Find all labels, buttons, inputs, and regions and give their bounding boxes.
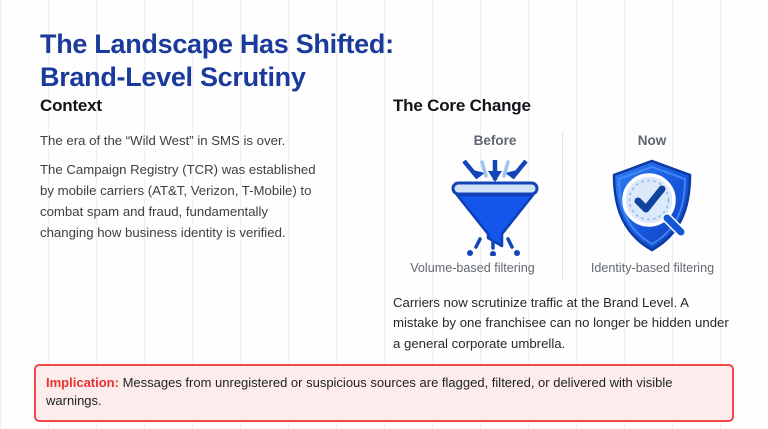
slide-canvas: The Landscape Has Shifted: Brand-Level S… [0, 0, 768, 429]
page-title-line-2: Brand-Level Scrutiny [40, 61, 470, 94]
core-change-heading: The Core Change [393, 96, 531, 116]
context-paragraph-2: The Campaign Registry (TCR) was establis… [40, 160, 316, 243]
page-title-line-1: The Landscape Has Shifted: [40, 29, 394, 59]
implication-banner: Implication: Messages from unregistered … [34, 364, 734, 422]
implication-tag: Implication: [46, 375, 119, 390]
shield-check-magnifier-graphic [607, 158, 697, 254]
caption-now: Identity-based filtering [570, 261, 735, 275]
shield-check-magnifier-icon [577, 156, 727, 256]
context-paragraph-1: The era of the “Wild West” in SMS is ove… [40, 131, 360, 150]
state-label-now: Now [577, 133, 727, 148]
core-change-body: Carriers now scrutinize traffic at the B… [393, 293, 733, 354]
page-title: The Landscape Has Shifted: Brand-Level S… [40, 28, 470, 94]
funnel-icon-graphic [449, 156, 541, 256]
context-heading: Context [40, 96, 102, 116]
caption-before: Volume-based filtering [390, 261, 555, 275]
implication-text: Messages from unregistered or suspicious… [46, 375, 672, 408]
funnel-icon [420, 156, 570, 256]
state-label-before: Before [420, 133, 570, 148]
